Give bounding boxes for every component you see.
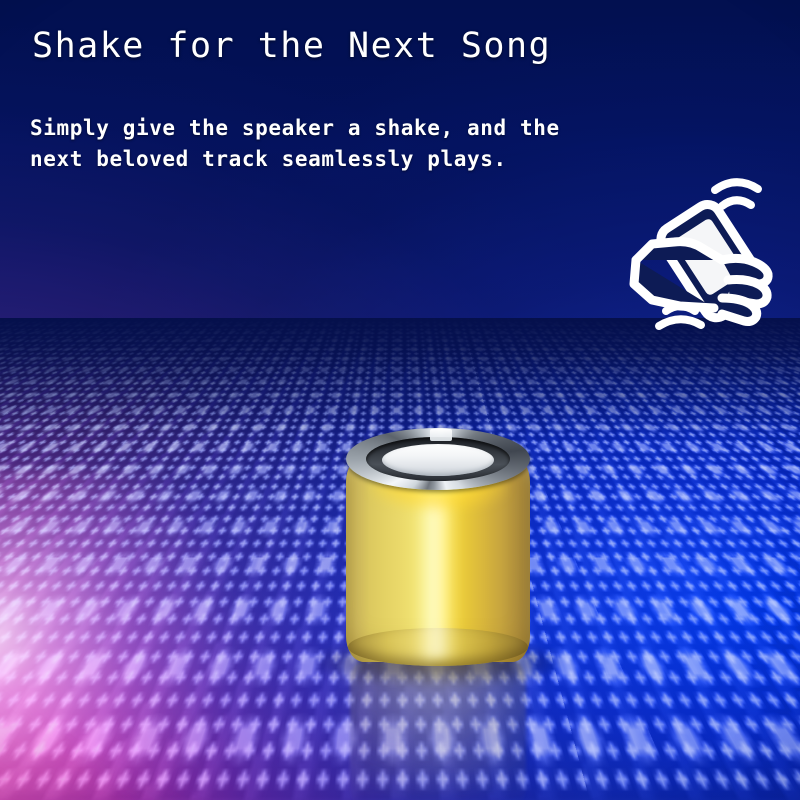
floor-light-hotspot — [0, 470, 300, 800]
speaker-driver-face — [382, 444, 494, 476]
product-bounce-light — [330, 648, 546, 798]
finger-ring — [722, 298, 757, 322]
subtitle-line-2: next beloved track seamlessly plays. — [30, 144, 690, 175]
motion-arc-top-outer — [715, 182, 758, 190]
speaker-bezel-notch — [430, 429, 452, 441]
motion-arc-bottom-outer — [659, 319, 701, 326]
shake-gesture-icon-svg — [618, 168, 794, 348]
product-speaker — [346, 428, 530, 662]
subtitle-line-1: Simply give the speaker a shake, and the — [30, 113, 690, 144]
subtitle-text: Simply give the speaker a shake, and the… — [30, 113, 690, 175]
motion-arc-top-inner — [722, 200, 751, 206]
shake-gesture-icon — [618, 168, 794, 348]
page-title: Shake for the Next Song — [32, 26, 551, 66]
product-feature-banner: Shake for the Next Song Simply give the … — [0, 0, 800, 800]
